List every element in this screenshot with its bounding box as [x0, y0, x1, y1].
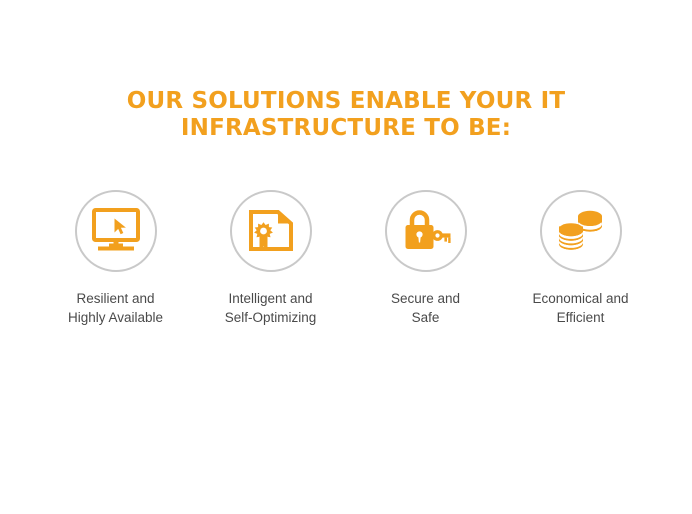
icon-circle-intelligent [230, 190, 312, 272]
feature-caption-line-2: Self-Optimizing [225, 308, 317, 327]
icon-circle-secure [385, 190, 467, 272]
page-title-line-1: OUR SOLUTIONS ENABLE YOUR IT [96, 88, 596, 115]
feature-item-economical: Economical and Efficient [503, 190, 658, 327]
feature-caption-line-1: Economical and [532, 289, 628, 308]
monitor-cursor-icon [91, 208, 141, 254]
feature-item-resilient: Resilient and Highly Available [38, 190, 193, 327]
certificate-seal-icon [247, 209, 295, 253]
feature-caption-line-2: Safe [391, 308, 460, 327]
feature-item-list: Resilient and Highly Available [0, 190, 692, 327]
padlock-key-icon [401, 209, 451, 253]
feature-caption-line-1: Intelligent and [225, 289, 317, 308]
feature-caption-line-2: Highly Available [68, 308, 163, 327]
slide-root: OUR SOLUTIONS ENABLE YOUR IT INFRASTRUCT… [0, 0, 692, 514]
feature-caption-line-2: Efficient [532, 308, 628, 327]
icon-circle-resilient [75, 190, 157, 272]
feature-caption-secure: Secure and Safe [391, 289, 460, 327]
page-title-line-2: INFRASTRUCTURE TO BE: [96, 115, 596, 142]
feature-caption-intelligent: Intelligent and Self-Optimizing [225, 289, 317, 327]
page-title: OUR SOLUTIONS ENABLE YOUR IT INFRASTRUCT… [96, 88, 596, 142]
coin-stack-icon [557, 208, 605, 254]
feature-caption-economical: Economical and Efficient [532, 289, 628, 327]
feature-caption-resilient: Resilient and Highly Available [68, 289, 163, 327]
icon-circle-economical [540, 190, 622, 272]
feature-caption-line-1: Secure and [391, 289, 460, 308]
feature-caption-line-1: Resilient and [68, 289, 163, 308]
feature-item-secure: Secure and Safe [348, 190, 503, 327]
feature-item-intelligent: Intelligent and Self-Optimizing [193, 190, 348, 327]
